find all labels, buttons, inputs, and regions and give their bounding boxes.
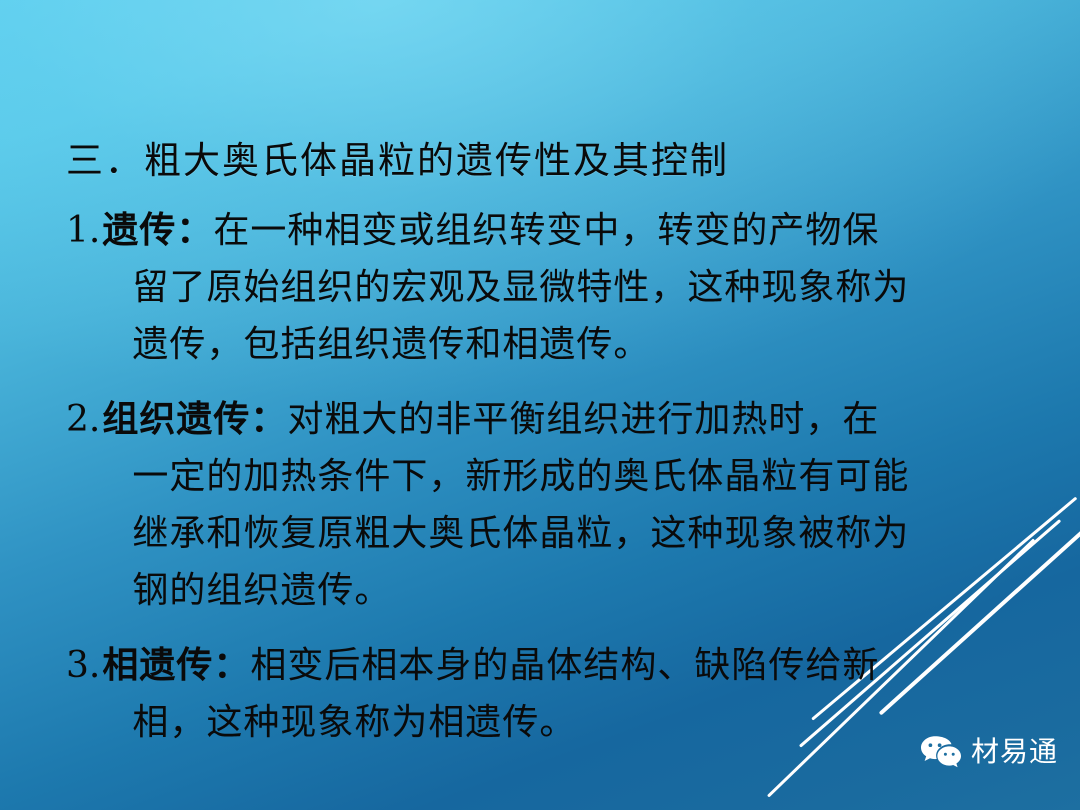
list-item-text-line: 继承和恢复原粗大奥氏体晶粒，这种现象被称为 — [102, 505, 1026, 562]
list-item-body: 组织遗传：对粗大的非平衡组织进行加热时，在 一定的加热条件下，新形成的奥氏体晶粒… — [102, 391, 1026, 619]
page-title: 三．粗大奥氏体晶粒的遗传性及其控制 — [66, 136, 1026, 186]
watermark-label: 材易通 — [971, 736, 1058, 768]
list-item: 1. 遗传：在一种相变或组织转变中，转变的产物保 留了原始组织的宏观及显微特性，… — [66, 202, 1026, 373]
list-item-text-line: 对粗大的非平衡组织进行加热时，在 — [287, 399, 879, 440]
watermark: 材易通 — [920, 735, 1058, 769]
list-item: 3. 相遗传：相变后相本身的晶体结构、缺陷传给新 相，这种现象称为相遗传。 — [66, 637, 1026, 751]
list-item-body: 相遗传：相变后相本身的晶体结构、缺陷传给新 相，这种现象称为相遗传。 — [102, 637, 1026, 751]
list-item-text-line: 在一种相变或组织转变中，转变的产物保 — [213, 210, 879, 251]
list-item-label: 遗传： — [102, 209, 213, 251]
list-item-text-line: 留了原始组织的宏观及显微特性，这种现象称为 — [102, 259, 1026, 316]
list-item-number: 3. — [66, 637, 102, 694]
list-item-text-line: 钢的组织遗传。 — [102, 562, 1026, 619]
list-item-label: 组织遗传： — [102, 398, 287, 440]
list-item-first-line: 组织遗传：对粗大的非平衡组织进行加热时，在 — [102, 391, 1026, 448]
list-item-text-line: 相变后相本身的晶体结构、缺陷传给新 — [250, 645, 879, 686]
list-item-number: 2. — [66, 391, 102, 448]
list-item-text-line: 相，这种现象称为相遗传。 — [102, 694, 1026, 751]
slide-canvas: 三．粗大奥氏体晶粒的遗传性及其控制 1. 遗传：在一种相变或组织转变中，转变的产… — [0, 0, 1080, 810]
list-item-number: 1. — [66, 202, 102, 259]
list-item-body: 遗传：在一种相变或组织转变中，转变的产物保 留了原始组织的宏观及显微特性，这种现… — [102, 202, 1026, 373]
list-item-label: 相遗传： — [102, 644, 250, 686]
list-item: 2. 组织遗传：对粗大的非平衡组织进行加热时，在 一定的加热条件下，新形成的奥氏… — [66, 391, 1026, 619]
slide-content: 三．粗大奥氏体晶粒的遗传性及其控制 1. 遗传：在一种相变或组织转变中，转变的产… — [66, 136, 1026, 769]
list-item-first-line: 相遗传：相变后相本身的晶体结构、缺陷传给新 — [102, 637, 1026, 694]
list-item-first-line: 遗传：在一种相变或组织转变中，转变的产物保 — [102, 202, 1026, 259]
list-item-text-line: 遗传，包括组织遗传和相遗传。 — [102, 316, 1026, 373]
wechat-icon — [920, 735, 962, 769]
list-item-text-line: 一定的加热条件下，新形成的奥氏体晶粒有可能 — [102, 448, 1026, 505]
